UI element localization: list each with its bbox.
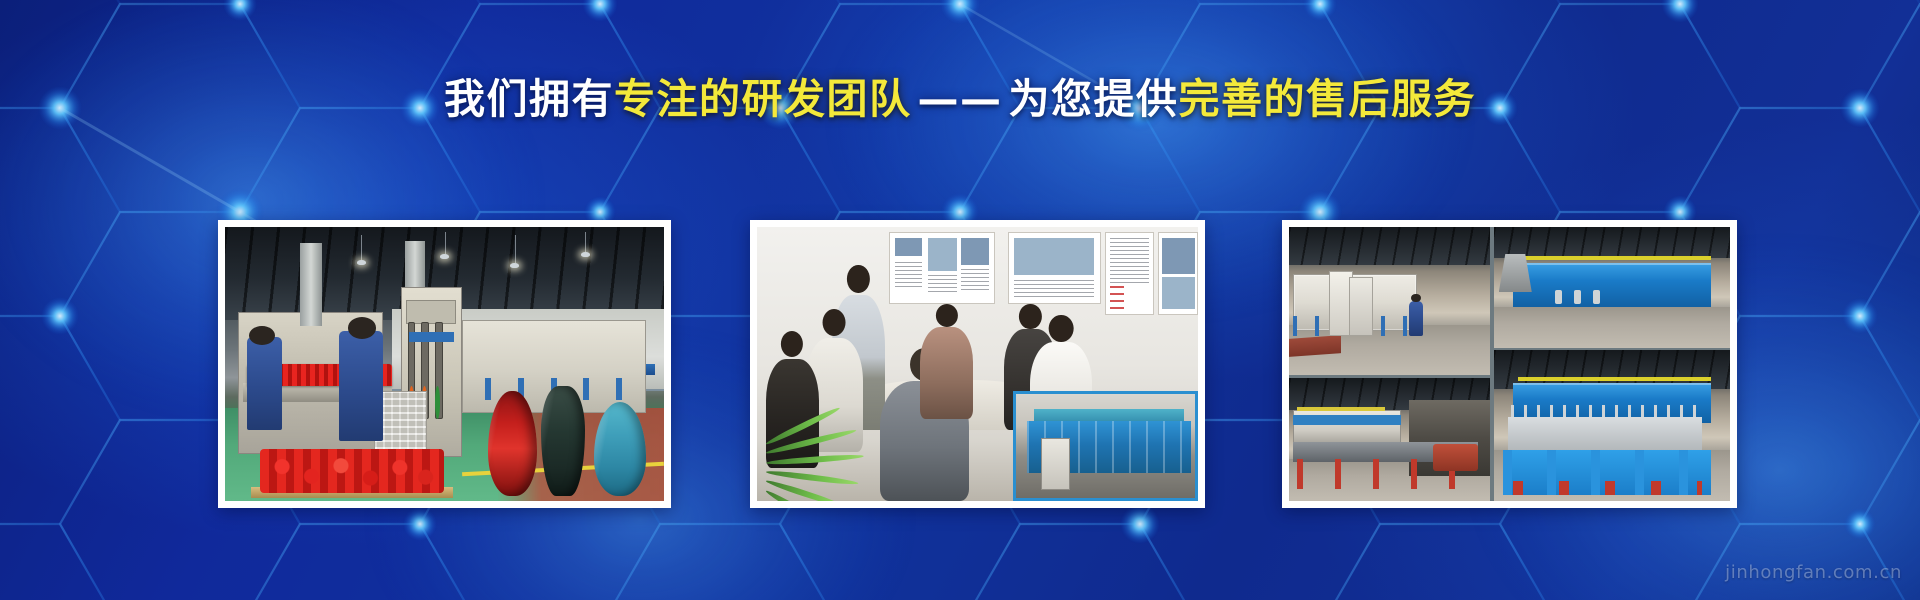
- customer-meeting-photo[interactable]: [750, 220, 1205, 508]
- banner-headline: 我们拥有专注的研发团队——为您提供完善的售后服务: [0, 79, 1920, 120]
- glass-vase-red: [488, 391, 536, 495]
- headline-dash: ——: [912, 75, 1009, 123]
- production-line-photo-image: [225, 227, 664, 501]
- site-watermark: jinhongfan.com.cn: [1725, 562, 1902, 583]
- headline-segment-1: 我们拥有: [444, 75, 614, 123]
- headline-segment-2: 专注的研发团队: [614, 75, 912, 123]
- production-line-photo[interactable]: [218, 220, 671, 508]
- promo-banner: 我们拥有专注的研发团队——为您提供完善的售后服务: [0, 0, 1920, 600]
- equipment-collage-photo[interactable]: [1282, 220, 1737, 508]
- collage-cell-annealing-line: [1289, 227, 1490, 375]
- glass-vase-dark: [541, 386, 585, 496]
- collage-cell-conveyor: [1289, 378, 1490, 501]
- machinery-inset-image: [1013, 391, 1198, 501]
- customer-meeting-photo-image: [757, 227, 1198, 501]
- equipment-collage-photo-image: [1289, 227, 1730, 501]
- collage-cell-blue-oven: [1494, 227, 1730, 348]
- collage-cell-hanging-rack: [1494, 350, 1730, 501]
- headline-segment-3: 为您提供: [1009, 75, 1179, 123]
- person-seated: [920, 304, 973, 419]
- headline-segment-4: 完善的售后服务: [1179, 75, 1477, 123]
- foreground-plant: [766, 408, 898, 501]
